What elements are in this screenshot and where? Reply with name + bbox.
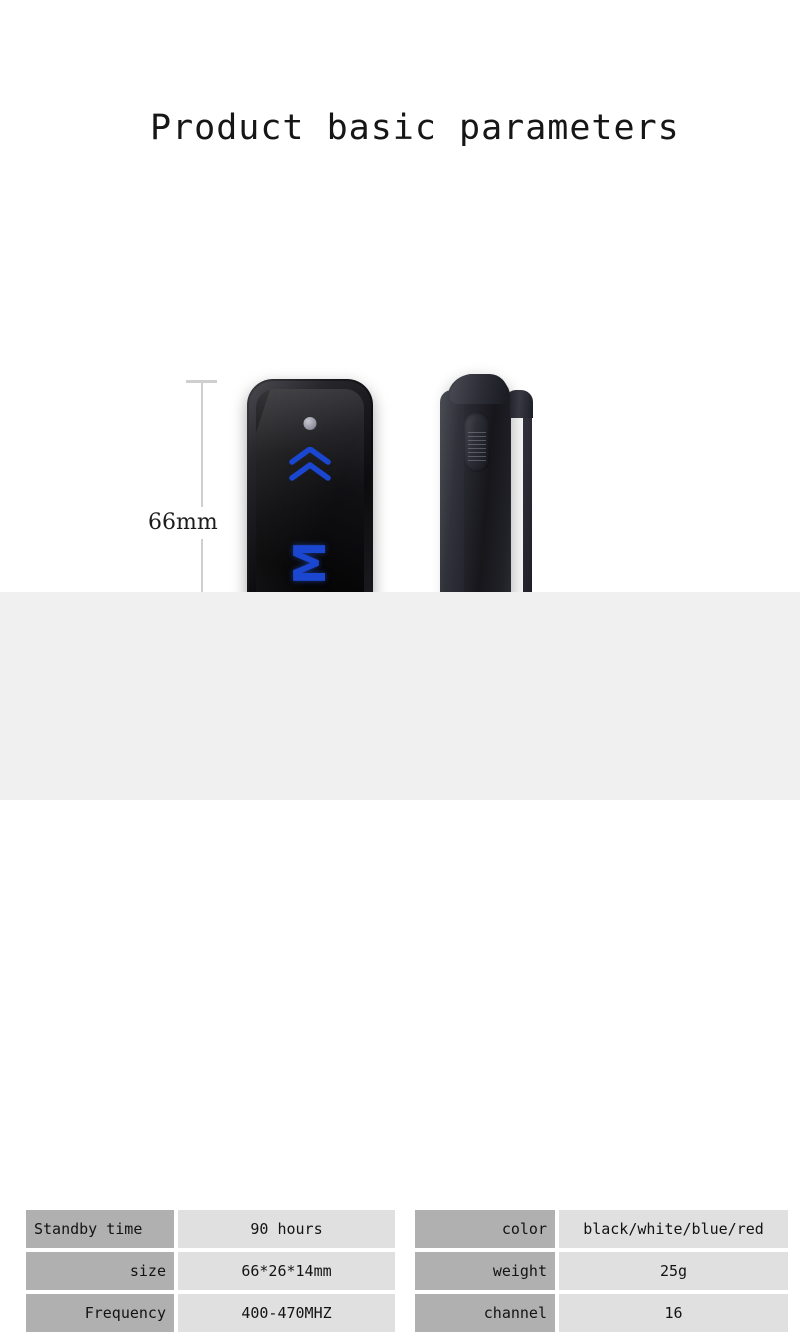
dimension-label-height: 66mm	[148, 507, 258, 539]
spec-value-weight: 25g	[559, 1252, 788, 1290]
spec-table-left: Standby time 90 hours size 66*26*14mm Fr…	[26, 1210, 395, 1336]
table-row: weight 25g	[415, 1252, 788, 1290]
table-row: color black/white/blue/red	[415, 1210, 788, 1248]
belt-clip-hook	[506, 390, 533, 418]
spec-table-band: Standby time 90 hours size 66*26*14mm Fr…	[0, 592, 800, 800]
spec-label-frequency: Frequency	[26, 1294, 174, 1332]
menu-m-icon: M	[284, 537, 336, 589]
side-button-ridges	[468, 432, 486, 462]
spec-label-weight: weight	[415, 1252, 555, 1290]
table-row: channel 16	[415, 1294, 788, 1332]
ptt-side-button	[464, 412, 490, 472]
spec-table-right: color black/white/blue/red weight 25g ch…	[415, 1210, 788, 1336]
spec-value-color: black/white/blue/red	[559, 1210, 788, 1248]
table-row: Standby time 90 hours	[26, 1210, 395, 1248]
spec-value-size: 66*26*14mm	[178, 1252, 395, 1290]
channel-up-double-chevron-icon	[287, 447, 333, 481]
spec-label-color: color	[415, 1210, 555, 1248]
spec-label-channel: channel	[415, 1294, 555, 1332]
table-row: size 66*26*14mm	[26, 1252, 395, 1290]
spec-value-standby-time: 90 hours	[178, 1210, 395, 1248]
spec-value-channel: 16	[559, 1294, 788, 1332]
spec-label-standby-time: Standby time	[26, 1210, 174, 1248]
spec-value-frequency: 400-470MHZ	[178, 1294, 395, 1332]
product-spec-page: Product basic parameters 66mm 26mm 14mm	[0, 0, 800, 800]
led-indicator-icon	[304, 417, 317, 430]
table-row: Frequency 400-470MHZ	[26, 1294, 395, 1332]
spec-label-size: size	[26, 1252, 174, 1290]
page-title: Product basic parameters	[150, 108, 670, 148]
device-top-cap	[450, 374, 508, 404]
product-photo-area: 66mm 26mm 14mm M	[0, 170, 800, 590]
